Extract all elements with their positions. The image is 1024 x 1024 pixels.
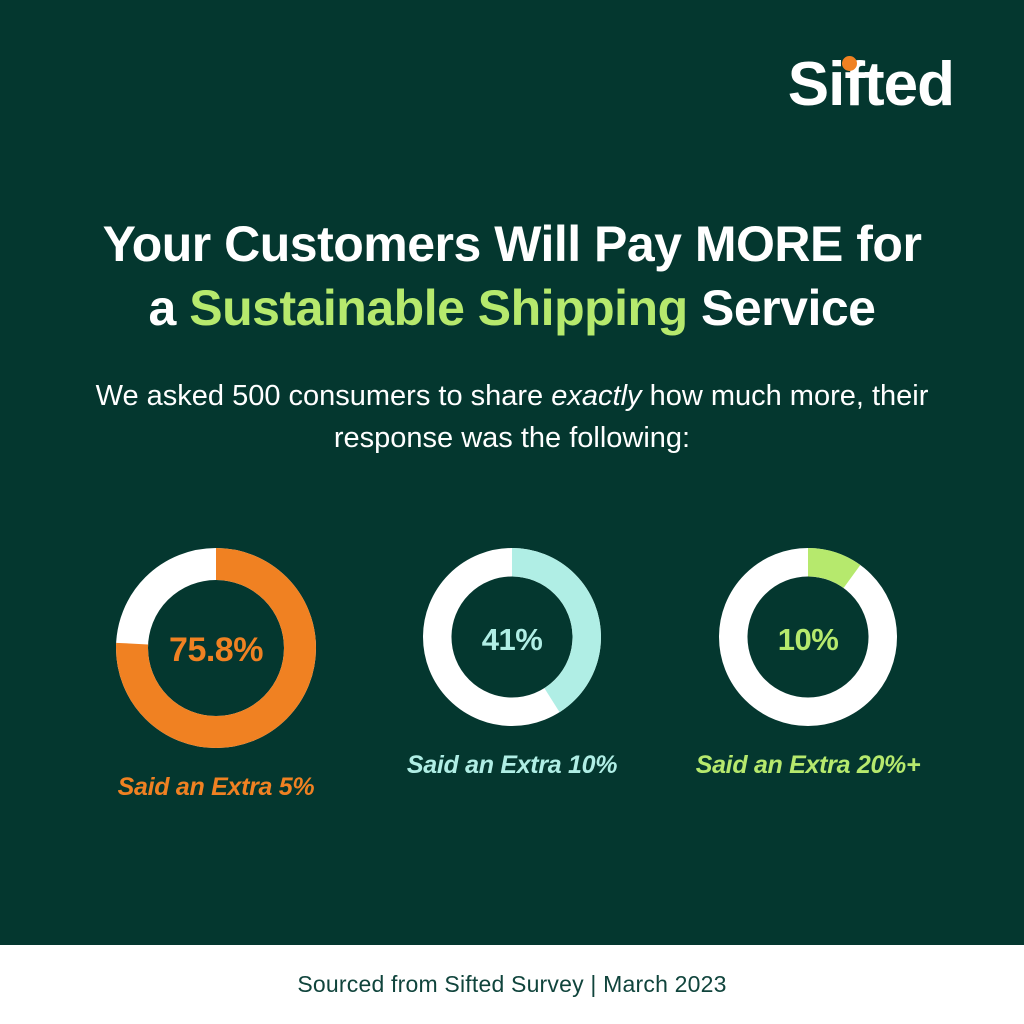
source-attribution: Sourced from Sifted Survey | March 2023 bbox=[297, 971, 726, 998]
donut-chart: 41% bbox=[423, 548, 601, 731]
sifted-logo: Sifted bbox=[788, 54, 954, 116]
headline-accent: Sustainable Shipping bbox=[189, 280, 687, 336]
headline-line-2-suffix: Service bbox=[688, 280, 876, 336]
donut-caption: Said an Extra 5% bbox=[118, 773, 315, 802]
headline-line-2-prefix: a bbox=[149, 280, 190, 336]
donut-cell: 10%Said an Extra 20%+ bbox=[708, 548, 908, 780]
subtitle-part-1: We asked 500 consumers to share bbox=[96, 380, 552, 412]
subtitle: We asked 500 consumers to share exactly … bbox=[0, 375, 1024, 459]
donut-caption: Said an Extra 10% bbox=[407, 751, 617, 780]
page-title: Your Customers Will Pay MORE for a Susta… bbox=[0, 212, 1024, 340]
headline-line-1: Your Customers Will Pay MORE for bbox=[103, 216, 922, 272]
infographic-canvas: Sifted Your Customers Will Pay MORE for … bbox=[0, 0, 1024, 1024]
donut-value-label: 75.8% bbox=[116, 548, 316, 753]
donut-chart: 10% bbox=[719, 548, 897, 731]
donut-chart-row: 75.8%Said an Extra 5%41%Said an Extra 10… bbox=[0, 548, 1024, 802]
donut-value-label: 10% bbox=[719, 548, 897, 731]
donut-chart: 75.8% bbox=[116, 548, 316, 753]
donut-cell: 41%Said an Extra 10% bbox=[412, 548, 612, 780]
logo-dot-icon bbox=[842, 56, 857, 71]
logo-wordmark: Sifted bbox=[788, 50, 954, 119]
subtitle-emphasis: exactly bbox=[551, 380, 641, 412]
donut-cell: 75.8%Said an Extra 5% bbox=[116, 548, 316, 802]
donut-value-label: 41% bbox=[423, 548, 601, 731]
footer-bar: Sourced from Sifted Survey | March 2023 bbox=[0, 945, 1024, 1024]
donut-caption: Said an Extra 20%+ bbox=[696, 751, 921, 780]
